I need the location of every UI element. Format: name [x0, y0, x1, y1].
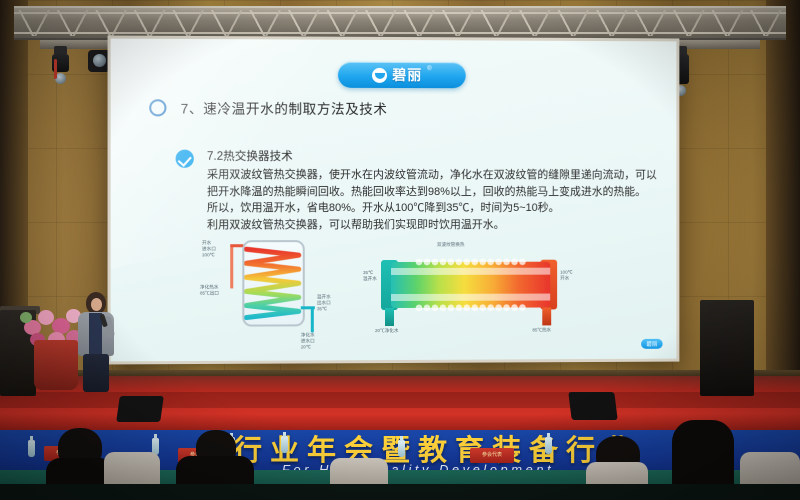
coiled-tube-icon	[244, 244, 302, 322]
label-purified-hot-outlet: 净化热水85℃出口	[200, 284, 219, 296]
tube-band-upper	[391, 268, 550, 275]
water-bottle	[28, 440, 35, 457]
water-state-diagram: 双波纹管换热 35℃温开水 100℃开水 20℃净化水 85℃热水 水在交换器里…	[363, 236, 582, 346]
heat-exchanger-diagram: 开水进水口100℃ 净化热水85℃出口 温开水出水口35℃ 净化水进水口20℃ …	[200, 236, 351, 347]
trademark-symbol: ®	[427, 66, 431, 72]
brand-name: 碧丽	[392, 65, 422, 85]
stage-monitor-right	[568, 392, 617, 420]
slide-page-badge: 碧丽	[641, 339, 663, 349]
corrugation-bottom	[415, 304, 526, 312]
nameplate-label: 参会代表	[470, 448, 514, 463]
loudspeaker-stack	[700, 300, 754, 396]
presenter-legs	[83, 354, 109, 392]
conference-hall-scene: 碧丽 ® 7、速冷温开水的制取方法及技术 7.2热交换器技术 采用双波纹管热交换…	[0, 0, 800, 500]
nameplate: 参会代表	[470, 448, 514, 463]
lighting-truss	[14, 6, 786, 40]
truss-rails	[14, 10, 786, 36]
moving-head-light	[52, 46, 69, 84]
truss-lattice	[14, 10, 786, 36]
water-bottle	[281, 436, 288, 453]
water-bottle	[398, 440, 405, 457]
slide-heading: 7、速冷温开水的制取方法及技术	[149, 97, 387, 118]
nozzle-right	[542, 307, 551, 325]
label-hot-water-inlet: 开水进水口100℃	[202, 240, 216, 258]
slide-heading-text: 7、速冷温开水的制取方法及技术	[181, 97, 388, 118]
section-paragraph-2: 所以，饮用温开水，省电80%。开水从100℃降到35℃，时间为5~10秒。	[207, 200, 658, 217]
section-paragraph-1: 采用双波纹管热交换器，使开水在内波纹管流动，净化水在双波纹管的缝隙里递向流动，可…	[207, 167, 658, 200]
label-purified-cold-inlet: 净化水进水口20℃	[301, 332, 315, 350]
section-paragraph-3: 利用双波纹管热交换器，可以帮助我们实现即时饮用温开水。	[207, 216, 658, 233]
projection-screen: 碧丽 ® 7、速冷温开水的制取方法及技术 7.2热交换器技术 采用双波纹管热交换…	[111, 39, 677, 362]
water-bottle	[545, 437, 552, 454]
section-body: 7.2热交换器技术 采用双波纹管热交换器，使开水在内波纹管流动，净化水在双波纹管…	[207, 148, 658, 233]
brand-logo-icon	[372, 67, 387, 82]
label-warm-water-outlet: 温开水出水口35℃	[317, 294, 331, 312]
brand-logo-badge: 碧丽 ®	[338, 62, 466, 88]
label-right-temp: 100℃开水	[560, 270, 573, 282]
hot-inlet-pipe-vertical	[230, 244, 233, 288]
ring-bullet-icon	[149, 99, 166, 116]
hot-inlet-pipe	[230, 244, 243, 247]
stage-monitor-left	[116, 396, 164, 422]
tube-band-lower	[391, 294, 550, 301]
presenter	[72, 292, 120, 392]
label-top-note: 双波纹管换热	[437, 242, 464, 248]
label-left-temp: 35℃温开水	[363, 270, 377, 282]
par-can-light	[88, 50, 110, 72]
label-bottom-right: 85℃热水	[532, 327, 551, 333]
section-title: 7.2热交换器技术	[207, 148, 658, 165]
wall-right-edge	[766, 0, 800, 430]
corrugation-top	[415, 258, 526, 266]
presenter-face	[91, 298, 102, 311]
slide-section: 7.2热交换器技术 采用双波纹管热交换器，使开水在内波纹管流动，净化水在双波纹管…	[176, 148, 658, 234]
label-bottom-left: 20℃净化水	[375, 328, 399, 334]
check-circle-icon	[176, 150, 194, 168]
nozzle-left	[385, 308, 394, 326]
cold-inlet-pipe-vertical	[311, 306, 314, 332]
foreground-shadow	[0, 484, 800, 500]
